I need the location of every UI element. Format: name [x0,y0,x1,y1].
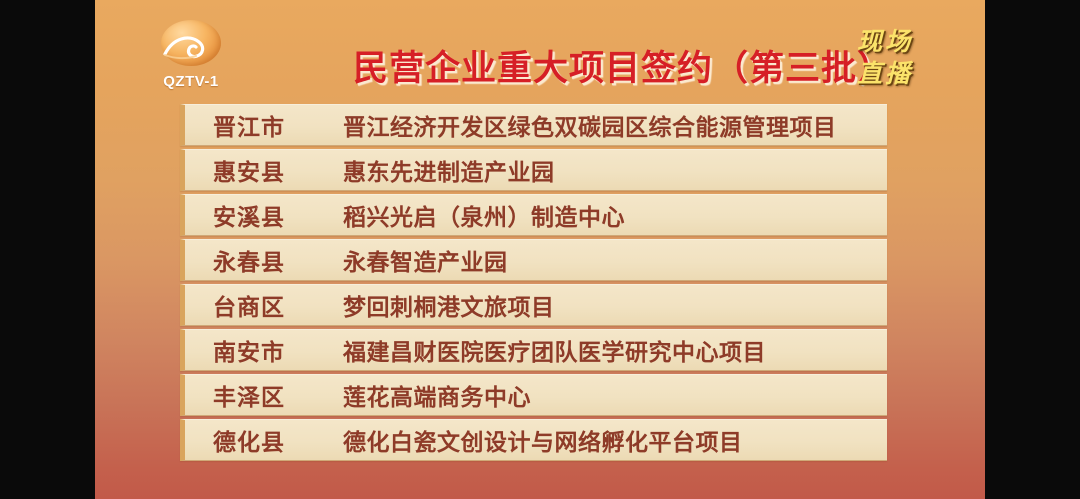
cell-project: 梦回刺桐港文旅项目 [313,288,887,322]
cell-project: 晋江经济开发区绿色双碳园区综合能源管理项目 [313,108,887,142]
cell-project: 永春智造产业园 [313,243,887,277]
channel-logo: QZTV-1 [145,20,237,90]
cell-district: 南安市 [185,333,313,367]
table-row: 南安市 福建昌财医院医疗团队医学研究中心项目 [180,329,887,371]
live-badge-line-2: 直播 [837,58,933,90]
cell-district: 台商区 [185,288,313,322]
cell-project: 稻兴光启（泉州）制造中心 [313,198,887,232]
letterbox-bar-right [985,0,1080,499]
table-row: 台商区 梦回刺桐港文旅项目 [180,284,887,326]
header: QZTV-1 民营企业重大项目签约（第三批） 现场 直播 [95,0,985,100]
live-broadcast-badge: 现场 直播 [837,26,933,90]
table-row: 惠安县 惠东先进制造产业园 [180,149,887,191]
table-row: 丰泽区 莲花高端商务中心 [180,374,887,416]
table-row: 德化县 德化白瓷文创设计与网络孵化平台项目 [180,419,887,461]
live-badge-line-1: 现场 [837,26,933,58]
broadcast-graphic-panel: QZTV-1 民营企业重大项目签约（第三批） 现场 直播 晋江市 晋江经济开发区… [95,0,985,499]
cell-district: 安溪县 [185,198,313,232]
cell-district: 惠安县 [185,153,313,187]
cell-district: 德化县 [185,423,313,457]
letterbox-bar-left [0,0,95,499]
cell-project: 福建昌财医院医疗团队医学研究中心项目 [313,333,887,367]
cell-project: 莲花高端商务中心 [313,378,887,412]
table-row: 安溪县 稻兴光启（泉州）制造中心 [180,194,887,236]
channel-logo-text: QZTV-1 [145,73,237,90]
cell-district: 丰泽区 [185,378,313,412]
table-row: 永春县 永春智造产业园 [180,239,887,281]
qztv-logo-icon [155,20,227,72]
cell-project: 德化白瓷文创设计与网络孵化平台项目 [313,423,887,457]
cell-district: 永春县 [185,243,313,277]
cell-district: 晋江市 [185,108,313,142]
broadcast-screen: QZTV-1 民营企业重大项目签约（第三批） 现场 直播 晋江市 晋江经济开发区… [0,0,1080,499]
signing-project-table: 晋江市 晋江经济开发区绿色双碳园区综合能源管理项目 惠安县 惠东先进制造产业园 … [180,104,887,461]
page-title: 民营企业重大项目签约（第三批） [353,40,893,91]
logo-swoosh-icon [163,32,219,62]
table-row: 晋江市 晋江经济开发区绿色双碳园区综合能源管理项目 [180,104,887,146]
cell-project: 惠东先进制造产业园 [313,153,887,187]
